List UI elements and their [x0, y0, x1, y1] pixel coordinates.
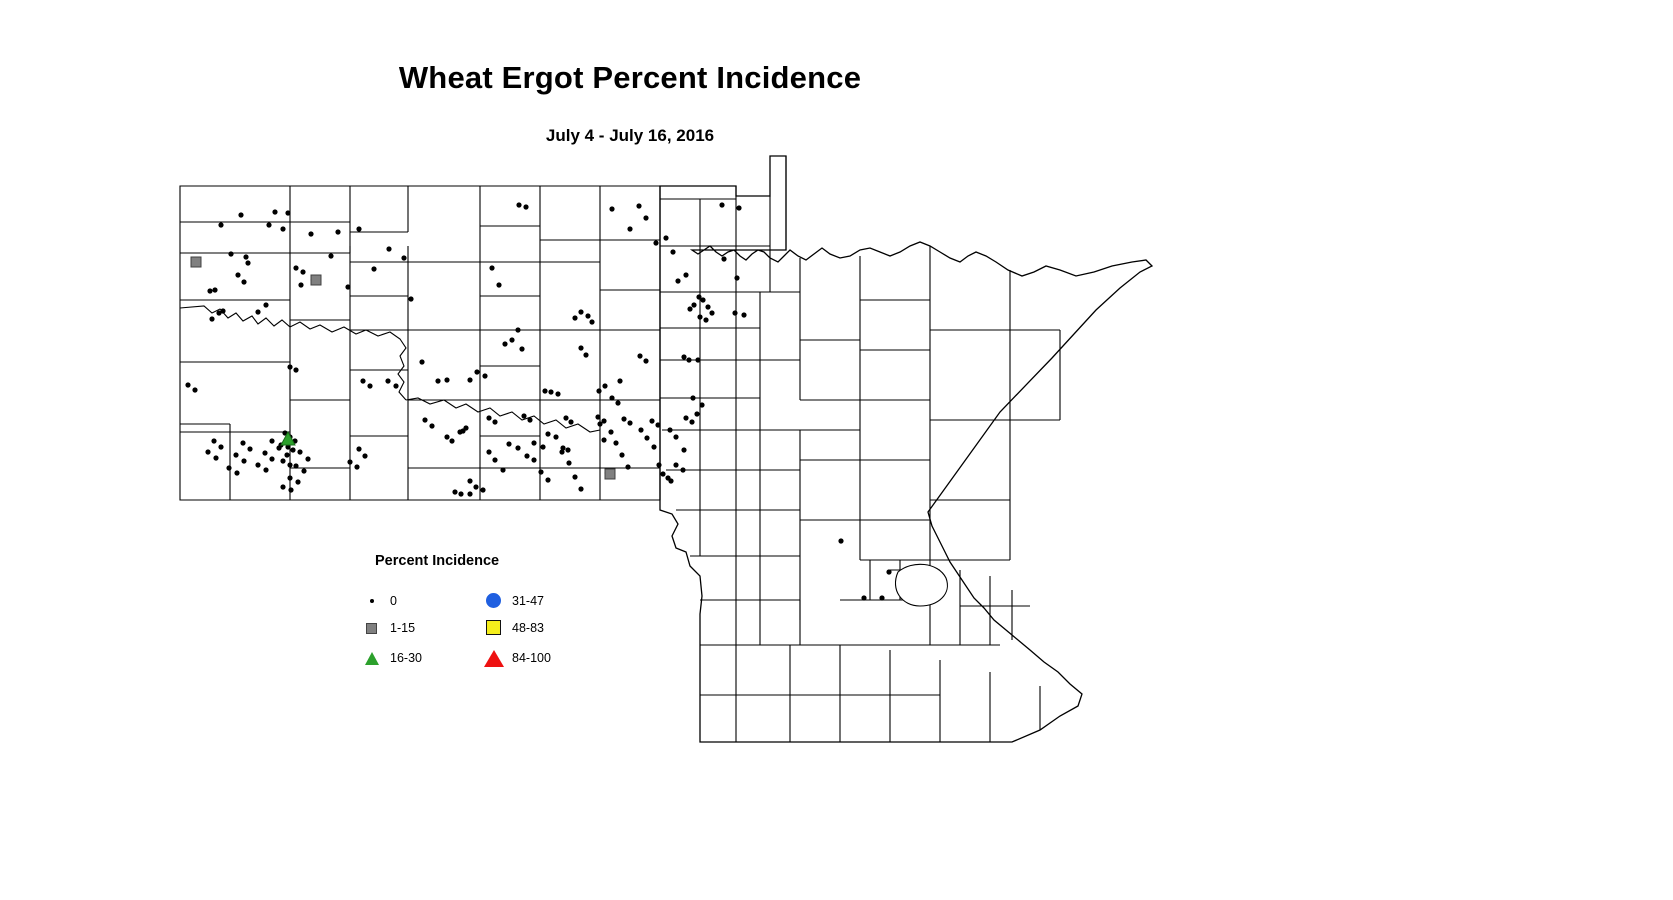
map-point-zero — [328, 253, 333, 258]
map-point-zero — [467, 491, 472, 496]
map-point-zero — [347, 459, 352, 464]
map-legend: Percent Incidence 0 1-15 16-30 31-47 48-… — [360, 548, 620, 678]
map-point-zero — [356, 226, 361, 231]
map-point-zero — [486, 415, 491, 420]
map-point-zero — [595, 414, 600, 419]
map-point-zero — [548, 389, 553, 394]
map-point-zero — [596, 388, 601, 393]
map-point-zero — [521, 413, 526, 418]
map-point-zero — [500, 467, 505, 472]
map-point-zero — [247, 446, 252, 451]
map-point-zero — [694, 411, 699, 416]
map-point-zero — [240, 440, 245, 445]
legend-entry-label: 31-47 — [512, 594, 544, 608]
map-point-zero — [293, 367, 298, 372]
map-point-zero — [741, 312, 746, 317]
red-triangle-icon — [482, 649, 510, 667]
map-point-zero — [301, 468, 306, 473]
map-point-zero — [287, 364, 292, 369]
map-point-zero — [245, 260, 250, 265]
map-point-zero — [886, 569, 891, 574]
map-canvas — [0, 0, 1673, 900]
map-point-zero — [656, 462, 661, 467]
map-point-zero — [697, 314, 702, 319]
north-dakota-counties — [180, 186, 660, 500]
map-point-zero — [538, 469, 543, 474]
map-point-zero — [308, 231, 313, 236]
map-point-zero — [583, 352, 588, 357]
map-point-zero — [356, 446, 361, 451]
map-point-zero — [627, 420, 632, 425]
green-triangle-icon — [360, 649, 388, 667]
map-point-zero — [531, 457, 536, 462]
map-point-zero — [474, 369, 479, 374]
map-point-zero — [519, 346, 524, 351]
map-point-zero — [515, 445, 520, 450]
map-point-zero — [732, 310, 737, 315]
map-point-zero — [734, 275, 739, 280]
minnesota-counties — [660, 156, 1152, 742]
map-point-zero — [285, 210, 290, 215]
map-point-zero — [608, 429, 613, 434]
map-point-zero — [360, 378, 365, 383]
map-point-zero — [709, 310, 714, 315]
map-point-zero — [615, 400, 620, 405]
map-point-zero — [460, 428, 465, 433]
legend-entry-16-30[interactable]: 16-30 — [360, 649, 422, 667]
map-point-zero — [284, 452, 289, 457]
map-point-zero — [578, 345, 583, 350]
map-point-1-15 — [191, 257, 201, 267]
map-point-zero — [602, 383, 607, 388]
map-point-zero — [280, 484, 285, 489]
map-point-zero — [509, 337, 514, 342]
map-point-zero — [691, 302, 696, 307]
map-point-zero — [542, 388, 547, 393]
map-point-zero — [435, 378, 440, 383]
map-point-zero — [627, 226, 632, 231]
map-point-zero — [524, 453, 529, 458]
map-point-zero — [293, 265, 298, 270]
map-point-zero — [527, 417, 532, 422]
map-point-zero — [540, 444, 545, 449]
map-point-zero — [408, 296, 413, 301]
map-point-zero — [705, 304, 710, 309]
map-point-zero — [429, 423, 434, 428]
map-point-zero — [467, 377, 472, 382]
map-point-zero — [699, 402, 704, 407]
map-point-zero — [269, 438, 274, 443]
map-point-zero — [638, 427, 643, 432]
map-point-zero — [663, 235, 668, 240]
map-point-zero — [703, 317, 708, 322]
map-point-zero — [220, 308, 225, 313]
map-point-zero — [613, 440, 618, 445]
map-point-zero — [255, 462, 260, 467]
map-point-zero — [555, 391, 560, 396]
map-point-zero — [371, 266, 376, 271]
map-point-zero — [621, 416, 626, 421]
legend-entry-1-15[interactable]: 1-15 — [360, 619, 415, 637]
map-point-zero — [480, 487, 485, 492]
map-point-zero — [838, 538, 843, 543]
map-point-zero — [354, 464, 359, 469]
map-point-zero — [585, 313, 590, 318]
map-point-zero — [643, 215, 648, 220]
map-point-zero — [565, 447, 570, 452]
map-point-zero — [489, 265, 494, 270]
map-point-zero — [502, 341, 507, 346]
map-point-zero — [287, 462, 292, 467]
map-point-zero — [643, 358, 648, 363]
map-point-zero — [386, 246, 391, 251]
map-point-zero — [673, 434, 678, 439]
map-point-zero — [362, 453, 367, 458]
map-point-zero — [572, 315, 577, 320]
map-point-zero — [719, 202, 724, 207]
map-point-zero — [241, 279, 246, 284]
map-point-zero — [689, 419, 694, 424]
map-point-zero — [218, 222, 223, 227]
map-point-zero — [649, 418, 654, 423]
map-point-zero — [619, 452, 624, 457]
map-point-zero — [272, 209, 277, 214]
map-point-zero — [367, 383, 372, 388]
map-point-zero — [228, 251, 233, 256]
map-point-zero — [655, 422, 660, 427]
map-point-zero — [297, 449, 302, 454]
map-point-zero — [609, 395, 614, 400]
map-point-1-15 — [311, 275, 321, 285]
map-point-zero — [305, 456, 310, 461]
map-point-zero — [185, 382, 190, 387]
blue-circle-icon — [482, 592, 510, 610]
map-point-zero — [721, 256, 726, 261]
legend-entry-label: 16-30 — [390, 651, 422, 665]
map-point-zero — [452, 489, 457, 494]
map-point-zero — [601, 437, 606, 442]
map-point-zero — [668, 478, 673, 483]
legend-entry-48-83[interactable]: 48-83 — [482, 619, 544, 637]
legend-title: Percent Incidence — [375, 553, 499, 569]
map-point-zero — [288, 487, 293, 492]
map-point-zero — [601, 418, 606, 423]
map-point-zero — [531, 440, 536, 445]
map-svg — [0, 0, 1673, 900]
map-point-zero — [879, 595, 884, 600]
legend-entry-31-47[interactable]: 31-47 — [482, 592, 544, 610]
map-point-zero — [625, 464, 630, 469]
map-point-zero — [506, 441, 511, 446]
map-point-zero — [523, 204, 528, 209]
map-point-zero — [300, 269, 305, 274]
map-point-zero — [207, 288, 212, 293]
map-point-zero — [444, 434, 449, 439]
map-point-zero — [422, 417, 427, 422]
map-point-zero — [213, 455, 218, 460]
map-point-zero — [444, 377, 449, 382]
map-point-zero — [492, 457, 497, 462]
map-point-zero — [861, 595, 866, 600]
map-point-zero — [298, 282, 303, 287]
map-point-zero — [667, 427, 672, 432]
map-point-zero — [243, 254, 248, 259]
map-point-zero — [589, 319, 594, 324]
map-point-zero — [262, 450, 267, 455]
map-point-zero — [255, 309, 260, 314]
gray-square-icon — [360, 619, 388, 637]
map-point-zero — [419, 359, 424, 364]
legend-entry-0[interactable]: 0 — [360, 592, 397, 610]
map-point-zero — [241, 458, 246, 463]
map-point-zero — [449, 438, 454, 443]
map-point-zero — [280, 226, 285, 231]
map-point-zero — [568, 419, 573, 424]
map-point-zero — [266, 222, 271, 227]
map-point-zero — [345, 284, 350, 289]
map-point-zero — [226, 465, 231, 470]
map-point-zero — [680, 467, 685, 472]
map-point-zero — [660, 471, 665, 476]
map-point-zero — [235, 272, 240, 277]
map-point-zero — [644, 435, 649, 440]
map-point-zero — [205, 449, 210, 454]
map-point-zero — [290, 447, 295, 452]
map-point-zero — [467, 478, 472, 483]
map-point-zero — [515, 327, 520, 332]
map-point-zero — [700, 297, 705, 302]
map-point-zero — [681, 447, 686, 452]
legend-entry-label: 0 — [390, 594, 397, 608]
map-figure: Wheat Ergot Percent Incidence July 4 - J… — [0, 0, 1673, 900]
map-point-zero — [233, 452, 238, 457]
map-point-zero — [572, 474, 577, 479]
map-point-zero — [681, 354, 686, 359]
map-point-zero — [212, 287, 217, 292]
map-point-zero — [563, 415, 568, 420]
legend-entry-label: 48-83 — [512, 621, 544, 635]
map-point-zero — [458, 491, 463, 496]
map-point-zero — [578, 486, 583, 491]
map-point-zero — [209, 316, 214, 321]
map-point-zero — [636, 203, 641, 208]
legend-entry-label: 84-100 — [512, 651, 551, 665]
small-black-dot-icon — [360, 592, 388, 610]
map-point-zero — [238, 212, 243, 217]
map-point-zero — [482, 373, 487, 378]
map-point-zero — [192, 387, 197, 392]
map-point-zero — [673, 462, 678, 467]
map-point-zero — [695, 357, 700, 362]
map-point-zero — [269, 456, 274, 461]
map-point-zero — [736, 205, 741, 210]
map-point-zero — [553, 434, 558, 439]
map-point-zero — [401, 255, 406, 260]
map-point-zero — [496, 282, 501, 287]
map-point-zero — [295, 479, 300, 484]
map-point-zero — [335, 229, 340, 234]
map-point-zero — [473, 484, 478, 489]
map-point-zero — [516, 202, 521, 207]
map-point-zero — [686, 357, 691, 362]
map-point-zero — [687, 306, 692, 311]
map-point-zero — [492, 419, 497, 424]
legend-entry-84-100[interactable]: 84-100 — [482, 649, 551, 667]
map-point-zero — [675, 278, 680, 283]
map-point-zero — [545, 431, 550, 436]
map-point-zero — [385, 378, 390, 383]
map-point-zero — [653, 240, 658, 245]
map-point-zero — [280, 458, 285, 463]
map-point-zero — [690, 395, 695, 400]
map-point-zero — [637, 353, 642, 358]
map-point-zero — [545, 477, 550, 482]
map-point-zero — [578, 309, 583, 314]
map-point-zero — [218, 444, 223, 449]
map-point-zero — [393, 383, 398, 388]
map-point-zero — [287, 475, 292, 480]
legend-entry-label: 1-15 — [390, 621, 415, 635]
map-point-zero — [263, 302, 268, 307]
map-point-zero — [234, 470, 239, 475]
map-point-zero — [609, 206, 614, 211]
map-point-zero — [617, 378, 622, 383]
yellow-square-icon — [482, 619, 510, 637]
map-point-zero — [263, 467, 268, 472]
map-point-zero — [486, 449, 491, 454]
map-point-zero — [559, 449, 564, 454]
map-point-zero — [293, 463, 298, 468]
map-point-zero — [683, 272, 688, 277]
map-point-zero — [651, 444, 656, 449]
map-point-1-15 — [605, 469, 615, 479]
map-point-zero — [211, 438, 216, 443]
map-point-zero — [670, 249, 675, 254]
map-point-zero — [683, 415, 688, 420]
map-point-zero — [566, 460, 571, 465]
